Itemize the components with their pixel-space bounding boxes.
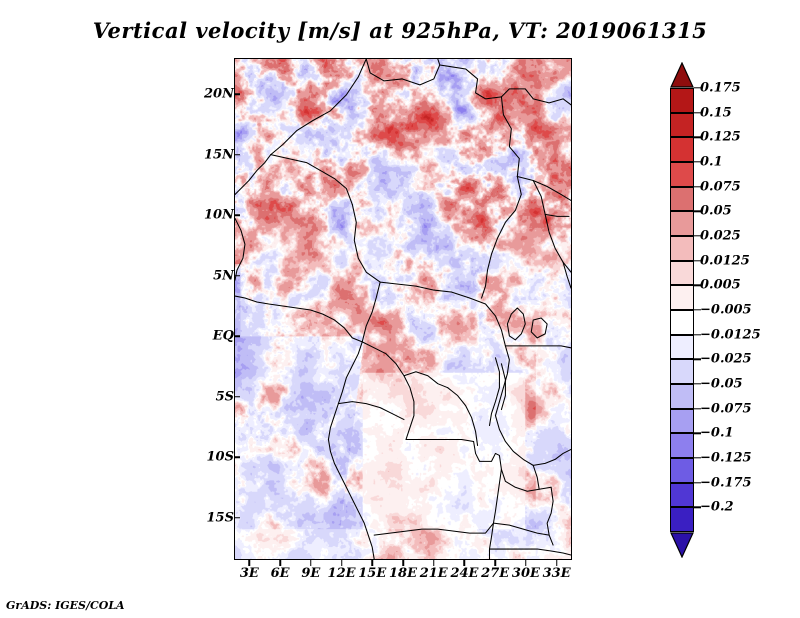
x-axis-tick-mark — [249, 560, 251, 566]
colorbar-swatch — [670, 359, 694, 384]
y-axis-tick-label: 5S — [216, 389, 234, 404]
x-axis-tick-label: 15E — [358, 566, 386, 581]
colorbar-swatch — [670, 187, 694, 212]
y-axis-tick-mark — [234, 154, 240, 156]
colorbar-swatch — [670, 211, 694, 236]
y-axis-labels: 20N15N10N5NEQ5S10S15S — [196, 58, 234, 560]
x-axis-tick-label: 21E — [420, 566, 448, 581]
y-axis-tick-label: 10N — [204, 208, 234, 223]
colorbar-swatch — [670, 384, 694, 409]
x-axis-tick-label: 30E — [512, 566, 540, 581]
colorbar-swatch — [670, 433, 694, 458]
x-axis-tick-mark — [433, 560, 435, 566]
x-axis-tick-label: 12E — [328, 566, 356, 581]
colorbar-tick-label: −0.05 — [700, 377, 743, 392]
colorbar-swatch — [670, 458, 694, 483]
colorbar-swatch — [670, 137, 694, 162]
y-axis-tick-mark — [234, 275, 240, 277]
colorbar-tick-label: −0.025 — [700, 352, 752, 367]
y-axis-tick-label: EQ — [213, 329, 234, 344]
y-axis-tick-label: 15N — [204, 147, 234, 162]
x-axis-tick-mark — [525, 560, 527, 566]
x-axis-labels: 3E6E9E12E15E18E21E24E27E30E33E — [234, 566, 572, 586]
y-axis-ticks — [234, 58, 242, 560]
colorbar-swatch — [670, 310, 694, 335]
y-axis-tick-mark — [234, 396, 240, 398]
colorbar-tick-label: 0.075 — [700, 179, 741, 194]
colorbar-swatch — [670, 162, 694, 187]
colorbar-tick-label: −0.1 — [700, 426, 734, 441]
colorbar-tick-label: −0.0125 — [700, 327, 761, 342]
colorbar-max-arrow — [670, 62, 694, 88]
colorbar-swatch — [670, 335, 694, 360]
colorbar-swatch — [670, 285, 694, 310]
x-axis-tick-mark — [341, 560, 343, 566]
y-axis-tick-mark — [234, 517, 240, 519]
colorbar-tick-label: 0.1 — [700, 155, 723, 170]
colorbar-tick-label: −0.005 — [700, 303, 752, 318]
y-axis-tick-label: 15S — [207, 510, 234, 525]
colorbar-swatch — [670, 236, 694, 261]
x-axis-tick-label: 3E — [240, 566, 259, 581]
y-axis-tick-mark — [234, 335, 240, 337]
x-axis-tick-mark — [556, 560, 558, 566]
colorbar-min-arrow — [670, 532, 694, 558]
colorbar-tick-label: 0.005 — [700, 278, 741, 293]
colorbar-tick-label: 0.175 — [700, 81, 741, 96]
x-axis-tick-mark — [372, 560, 374, 566]
x-axis-tick-mark — [402, 560, 404, 566]
grads-attribution: GrADS: IGES/COLA — [6, 599, 125, 612]
page-title: Vertical velocity [m/s] at 925hPa, VT: 2… — [0, 18, 800, 43]
x-axis-tick-mark — [279, 560, 281, 566]
x-axis-tick-label: 33E — [543, 566, 571, 581]
colorbar-swatch — [670, 261, 694, 286]
y-axis-tick-mark — [234, 94, 240, 96]
x-axis-tick-label: 18E — [389, 566, 417, 581]
y-axis-tick-label: 10S — [207, 450, 234, 465]
x-axis-tick-mark — [310, 560, 312, 566]
x-axis-tick-mark — [494, 560, 496, 566]
colorbar-tick-label: 0.0125 — [700, 253, 750, 268]
colorbar-tick-label: −0.075 — [700, 401, 752, 416]
colorbar-swatch — [670, 483, 694, 508]
x-axis-ticks — [234, 560, 572, 568]
x-axis-tick-label: 27E — [481, 566, 509, 581]
map-plot-area — [234, 58, 572, 560]
x-axis-tick-label: 6E — [271, 566, 290, 581]
colorbar-tick-label: 0.05 — [700, 204, 732, 219]
colorbar-swatch — [670, 113, 694, 138]
y-axis-tick-mark — [234, 456, 240, 458]
colorbar-tick-label: −0.175 — [700, 475, 752, 490]
y-axis-tick-mark — [234, 215, 240, 217]
x-axis-tick-label: 24E — [450, 566, 478, 581]
x-axis-tick-label: 9E — [301, 566, 320, 581]
colorbar-swatch — [670, 409, 694, 434]
colorbar: 0.1750.150.1250.10.0750.050.0250.01250.0… — [670, 62, 694, 558]
colorbar-tick-label: 0.025 — [700, 229, 741, 244]
colorbar-tick-label: 0.15 — [700, 105, 732, 120]
country-borders-overlay — [235, 59, 571, 559]
colorbar-tick-label: −0.125 — [700, 451, 752, 466]
colorbar-tick-label: −0.2 — [700, 500, 734, 515]
colorbar-swatch — [670, 507, 694, 532]
colorbar-tick-label: 0.125 — [700, 130, 741, 145]
x-axis-tick-mark — [464, 560, 466, 566]
colorbar-swatch — [670, 88, 694, 113]
y-axis-tick-label: 20N — [204, 87, 234, 102]
y-axis-tick-label: 5N — [213, 268, 234, 283]
